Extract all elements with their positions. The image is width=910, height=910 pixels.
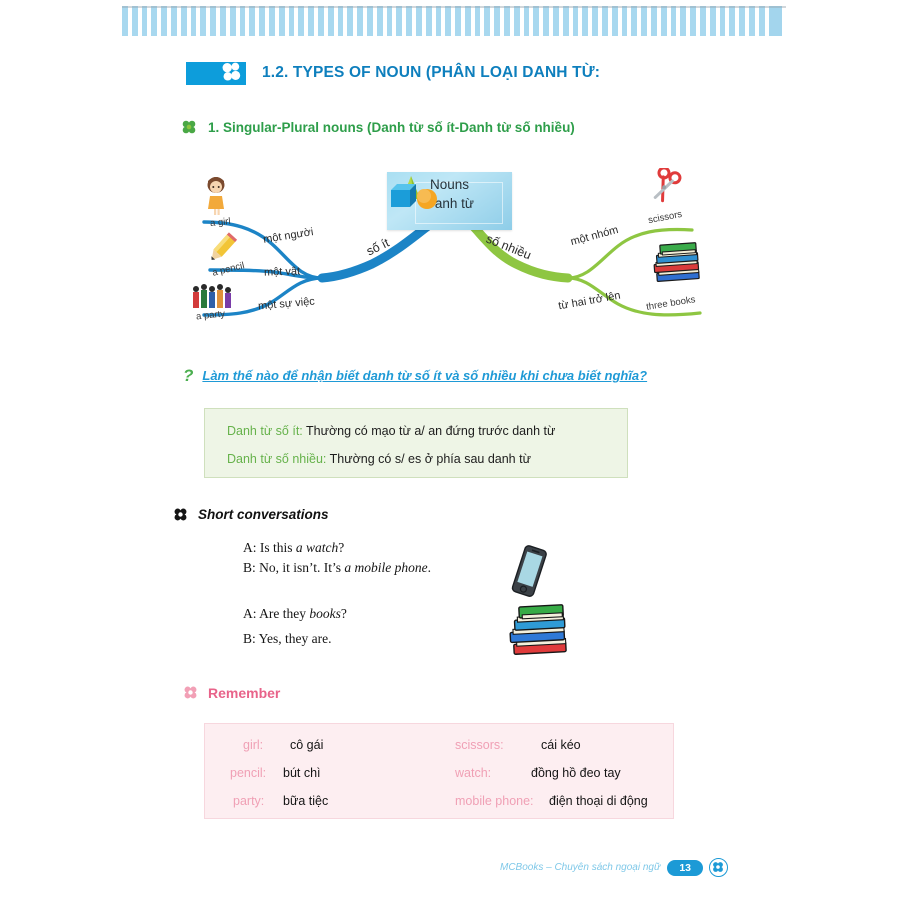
stripe-bar-wide — [769, 6, 783, 36]
stripe-bar — [651, 6, 657, 36]
page-title: 1.2. TYPES OF NOUN (PHÂN LOẠI DANH TỪ: — [262, 64, 600, 82]
stripe-bar — [641, 6, 647, 36]
stripe-bar — [171, 6, 177, 36]
dialog-plain1: Are they — [257, 606, 310, 621]
green-box-row: Danh từ số ít: Thường có mạo từ a/ an đứ… — [227, 424, 555, 438]
stripe-bar — [631, 6, 637, 36]
stripe-bar — [220, 6, 226, 36]
page-root: { "page": { "number": "13", "footer_text… — [0, 0, 910, 910]
scissors-icon — [646, 168, 686, 208]
stripe-bar — [269, 6, 275, 36]
stripe-bar — [739, 6, 745, 36]
remember-box: girl: cô gái pencil: bút chì party: bữa … — [204, 723, 674, 819]
dialog-line: A: Are they books? — [243, 606, 347, 622]
clover-icon-pink — [182, 684, 199, 701]
stripe-bar — [690, 6, 696, 36]
stripe-bar — [240, 6, 246, 36]
remember-meaning: bút chì — [283, 766, 321, 780]
stripe-bar — [543, 6, 549, 36]
dialog-italic: a watch — [296, 540, 338, 555]
clover-icon-green — [180, 118, 198, 136]
girl-icon — [200, 176, 232, 216]
stripe-bar — [142, 6, 148, 36]
stripe-bar — [553, 6, 559, 36]
stripe-bar — [533, 6, 539, 36]
page-number-badge: 13 — [667, 860, 703, 876]
green-box-value: Thường có mạo từ a/ an đứng trước danh t… — [306, 424, 555, 438]
books-stack-icon — [503, 600, 575, 660]
green-box-row: Danh từ số nhiều: Thường có s/ es ở phía… — [227, 452, 531, 466]
dialog-plain2: . — [428, 560, 431, 575]
green-info-box: Danh từ số ít: Thường có mạo từ a/ an đứ… — [204, 408, 628, 478]
remember-heading: Remember — [208, 685, 280, 701]
stripe-bar — [749, 6, 755, 36]
dialog-line: B: Yes, they are. — [243, 631, 332, 647]
dialog-line: B: No, it isn’t. It’s a mobile phone. — [243, 560, 431, 576]
stripe-bar — [445, 6, 451, 36]
stripe-bar — [759, 6, 765, 36]
dialog-line: A: Is this a watch? — [243, 540, 344, 556]
stripe-bar — [249, 6, 255, 36]
green-box-key: Danh từ số nhiều: — [227, 452, 326, 466]
remember-word: mobile phone: — [455, 794, 534, 808]
remember-meaning: đồng hồ đeo tay — [531, 766, 621, 780]
remember-word: pencil: — [230, 766, 266, 780]
remember-word: party: — [233, 794, 264, 808]
footer-brand-text: MCBooks – Chuyên sách ngoại ngữ — [500, 862, 660, 873]
stripe-bar — [132, 6, 138, 36]
stripe-top-line — [122, 6, 786, 8]
stripe-bar — [524, 6, 530, 36]
stripe-bar — [289, 6, 295, 36]
dialog-speaker: A: — [243, 606, 257, 621]
stripe-bar — [426, 6, 432, 36]
remember-meaning: cô gái — [290, 738, 323, 752]
stripe-bar — [416, 6, 422, 36]
shapes-decoration-icon — [387, 172, 441, 214]
stripe-bar — [357, 6, 363, 36]
dialog-italic: a mobile phone — [344, 560, 427, 575]
stripe-bar — [308, 6, 314, 36]
dialog-plain1: Yes, they are. — [256, 631, 332, 646]
dialog-speaker: A: — [243, 540, 257, 555]
stripe-bar — [612, 6, 618, 36]
green-box-key: Danh từ số ít: — [227, 424, 303, 438]
stripe-bar — [602, 6, 608, 36]
remember-heading-row: Remember — [182, 684, 280, 701]
mobile-phone-icon — [505, 542, 553, 602]
mindmap-example-a-girl: a girl — [209, 216, 231, 229]
stripe-bar — [563, 6, 569, 36]
stripe-bar — [318, 6, 324, 36]
stripe-bar — [347, 6, 353, 36]
remember-meaning: bữa tiệc — [283, 794, 328, 808]
green-box-value: Thường có s/ es ở phía sau danh từ — [330, 452, 531, 466]
question-text: Làm thế nào để nhận biết danh từ số ít v… — [202, 368, 647, 383]
stripe-bar — [122, 6, 128, 36]
dialog-plain2: ? — [341, 606, 347, 621]
stripe-bar — [465, 6, 471, 36]
stripe-bar — [514, 6, 520, 36]
mindmap-center-node: Nouns Danh từ — [387, 172, 512, 230]
remember-word: watch: — [455, 766, 491, 780]
mindmap-category-mot-vat: một vật — [264, 265, 300, 278]
short-conversations-heading-row: Short conversations — [172, 506, 329, 523]
footer-logo-icon — [709, 858, 728, 877]
question-row: ? Làm thế nào để nhận biết danh từ số ít… — [183, 368, 647, 384]
books-icon — [648, 238, 706, 286]
stripe-bar — [661, 6, 667, 36]
stripe-bar — [455, 6, 461, 36]
dialog-speaker: B: — [243, 631, 256, 646]
dialog-speaker: B: — [243, 560, 256, 575]
stripe-bar — [367, 6, 373, 36]
remember-meaning: điện thoại di động — [549, 794, 648, 808]
stripe-bar — [592, 6, 598, 36]
clover-icon — [218, 59, 244, 85]
footer: MCBooks – Chuyên sách ngoại ngữ 13 — [500, 858, 728, 877]
section-title-row: 1.2. TYPES OF NOUN (PHÂN LOẠI DANH TỪ: — [186, 60, 600, 86]
subsection-heading-row: 1. Singular-Plural nouns (Danh từ số ít-… — [180, 118, 575, 136]
stripe-bar — [200, 6, 206, 36]
stripe-bar — [504, 6, 510, 36]
stripe-bar — [582, 6, 588, 36]
party-icon — [190, 282, 236, 312]
stripe-bar — [328, 6, 334, 36]
dialog-plain1: Is this — [257, 540, 296, 555]
stripe-bar — [680, 6, 686, 36]
stripe-bar — [279, 6, 285, 36]
subsection-heading: 1. Singular-Plural nouns (Danh từ số ít-… — [208, 120, 575, 135]
stripe-bar — [161, 6, 167, 36]
stripe-bar — [710, 6, 716, 36]
remember-word: scissors: — [455, 738, 504, 752]
stripe-bar — [230, 6, 236, 36]
stripe-bar — [181, 6, 187, 36]
stripe-bar — [406, 6, 412, 36]
top-decorative-stripe — [122, 6, 782, 36]
stripe-bar — [573, 6, 579, 36]
stripe-bar — [191, 6, 197, 36]
dialog-italic: books — [309, 606, 341, 621]
remember-meaning: cái kéo — [541, 738, 581, 752]
short-conversations-heading: Short conversations — [198, 507, 329, 522]
question-mark-icon: ? — [183, 368, 193, 384]
clover-icon-black — [172, 506, 189, 523]
stripe-bar — [436, 6, 442, 36]
dialog-plain2: ? — [338, 540, 344, 555]
mindmap-diagram: Nouns Danh từ — [180, 160, 740, 340]
stripe-bar — [338, 6, 344, 36]
stripe-bar — [622, 6, 628, 36]
stripe-bar — [387, 6, 393, 36]
stripe-bar — [729, 6, 735, 36]
stripe-bar — [484, 6, 490, 36]
remember-word: girl: — [243, 738, 263, 752]
stripe-bar — [475, 6, 481, 36]
stripe-bar — [259, 6, 265, 36]
stripe-bar — [210, 6, 216, 36]
stripe-bar — [298, 6, 304, 36]
stripe-bar — [396, 6, 402, 36]
stripe-bar — [494, 6, 500, 36]
stripe-bar — [720, 6, 726, 36]
stripe-bar — [151, 6, 157, 36]
stripe-bar — [377, 6, 383, 36]
dialog-plain1: No, it isn’t. It’s — [256, 560, 345, 575]
stripe-bar — [671, 6, 677, 36]
stripe-bar — [700, 6, 706, 36]
